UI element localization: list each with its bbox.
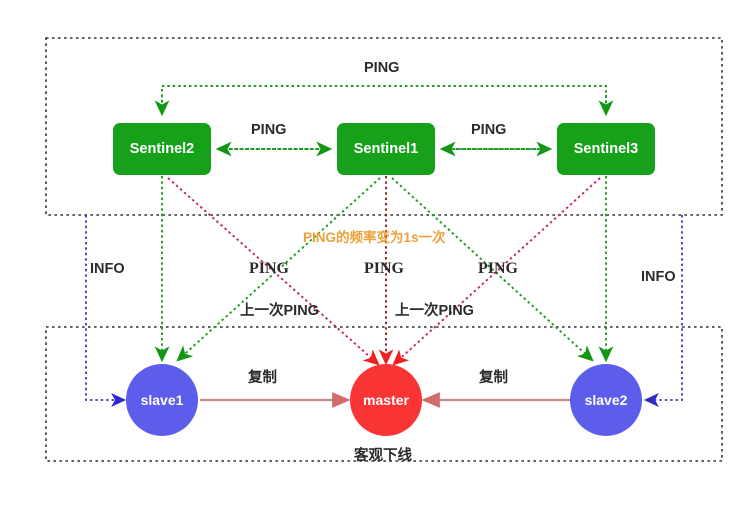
data-node-slave1[interactable]: slave1: [126, 364, 198, 436]
label-ping-left-pair: PING: [251, 122, 286, 138]
label-objective-down: 客观下线: [354, 444, 412, 465]
label-ping-column-right: PING: [478, 260, 518, 278]
slave2-label: slave2: [585, 392, 628, 408]
slave1-label: slave1: [141, 392, 184, 408]
sentinel-node-sentinel1[interactable]: Sentinel1: [337, 123, 435, 175]
sentinel-node-sentinel3[interactable]: Sentinel3: [557, 123, 655, 175]
data-node-slave2[interactable]: slave2: [570, 364, 642, 436]
label-ping-column-mid: PING: [364, 260, 404, 278]
sentinel2-label: Sentinel2: [130, 141, 194, 158]
label-ping-column-left: PING: [249, 260, 289, 278]
label-replicate-right: 复制: [479, 366, 508, 387]
label-info-left: INFO: [90, 261, 125, 277]
label-ping-frequency: PING的频率变为1s一次: [303, 226, 446, 246]
label-last-ping-right: 上一次PING: [395, 299, 474, 320]
label-ping-right-pair: PING: [471, 122, 506, 138]
sentinel3-label: Sentinel3: [574, 141, 638, 158]
data-node-master[interactable]: master: [350, 364, 422, 436]
ping-top-connector: [162, 86, 606, 113]
master-label: master: [363, 392, 409, 408]
info-left-connector: [86, 215, 124, 400]
label-last-ping-left: 上一次PING: [240, 299, 319, 320]
diagram-canvas: Sentinel2 Sentinel1 Sentinel3 slave1 mas…: [0, 0, 752, 511]
label-replicate-left: 复制: [248, 366, 277, 387]
sentinel-node-sentinel2[interactable]: Sentinel2: [113, 123, 211, 175]
info-right-connector: [646, 215, 682, 400]
label-info-right: INFO: [641, 269, 676, 285]
label-ping-top: PING: [364, 60, 399, 76]
sentinel1-label: Sentinel1: [354, 141, 418, 158]
